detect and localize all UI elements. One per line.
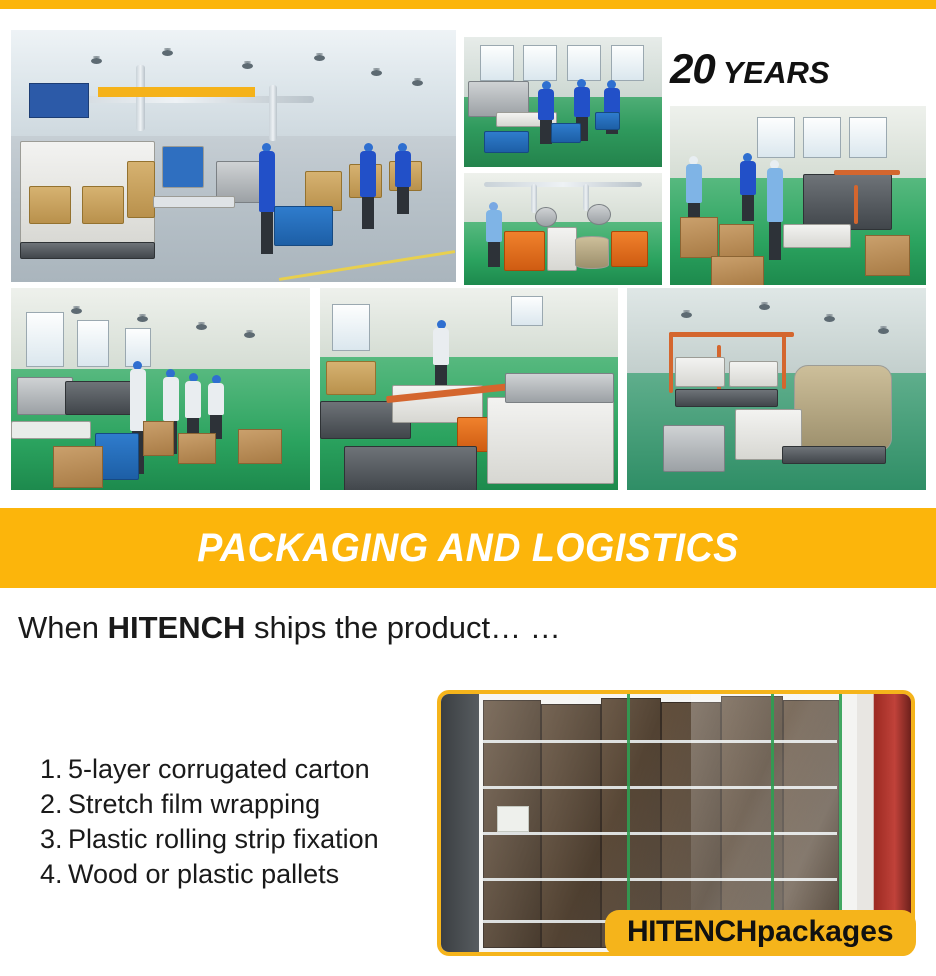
section-banner: PACKAGING AND LOGISTICS	[0, 508, 936, 588]
intro-brand: HITENCH	[108, 610, 246, 645]
list-item: 3.Plastic rolling strip fixation	[40, 822, 379, 857]
list-item-text: 5-layer corrugated carton	[68, 754, 370, 784]
list-item-text: Wood or plastic pallets	[68, 859, 339, 889]
photo-packing-department	[670, 106, 926, 285]
list-item: 4.Wood or plastic pallets	[40, 857, 379, 892]
top-accent-bar	[0, 0, 936, 9]
photo-converting-machine	[320, 288, 618, 490]
intro-line: When HITENCH ships the product… …	[18, 610, 561, 646]
intro-prefix: When	[18, 610, 108, 645]
list-item-index: 1.	[40, 752, 68, 787]
factory-photo-collage: 20YEARS	[0, 9, 936, 508]
intro-suffix: ships the product… …	[245, 610, 560, 645]
years-badge: 20YEARS	[670, 45, 926, 107]
years-word: YEARS	[723, 55, 830, 90]
list-item-text: Stretch film wrapping	[68, 789, 320, 819]
list-item: 1.5-layer corrugated carton	[40, 752, 379, 787]
hitench-packages-badge: HITENCHpackages	[605, 910, 916, 956]
years-number: 20	[670, 45, 715, 92]
years-underline-bar	[98, 87, 255, 97]
photo-paper-roll-printing-press	[627, 288, 926, 490]
badge-brand: HITENCH	[627, 915, 757, 948]
badge-word: packages	[757, 915, 894, 948]
packaging-list: 1.5-layer corrugated carton 2.Stretch fi…	[40, 752, 379, 892]
list-item-text: Plastic rolling strip fixation	[68, 824, 379, 854]
list-item-index: 4.	[40, 857, 68, 892]
photo-factory-automation-line	[11, 30, 456, 282]
years-text-group: 20YEARS	[670, 45, 830, 93]
list-item-index: 2.	[40, 787, 68, 822]
section-title: PACKAGING AND LOGISTICS	[28, 508, 908, 588]
photo-paper-cup-machines	[464, 173, 662, 285]
list-item-index: 3.	[40, 822, 68, 857]
list-item: 2.Stretch film wrapping	[40, 787, 379, 822]
photo-production-hall-wide	[11, 288, 310, 490]
photo-assembly-workshop	[464, 37, 662, 167]
